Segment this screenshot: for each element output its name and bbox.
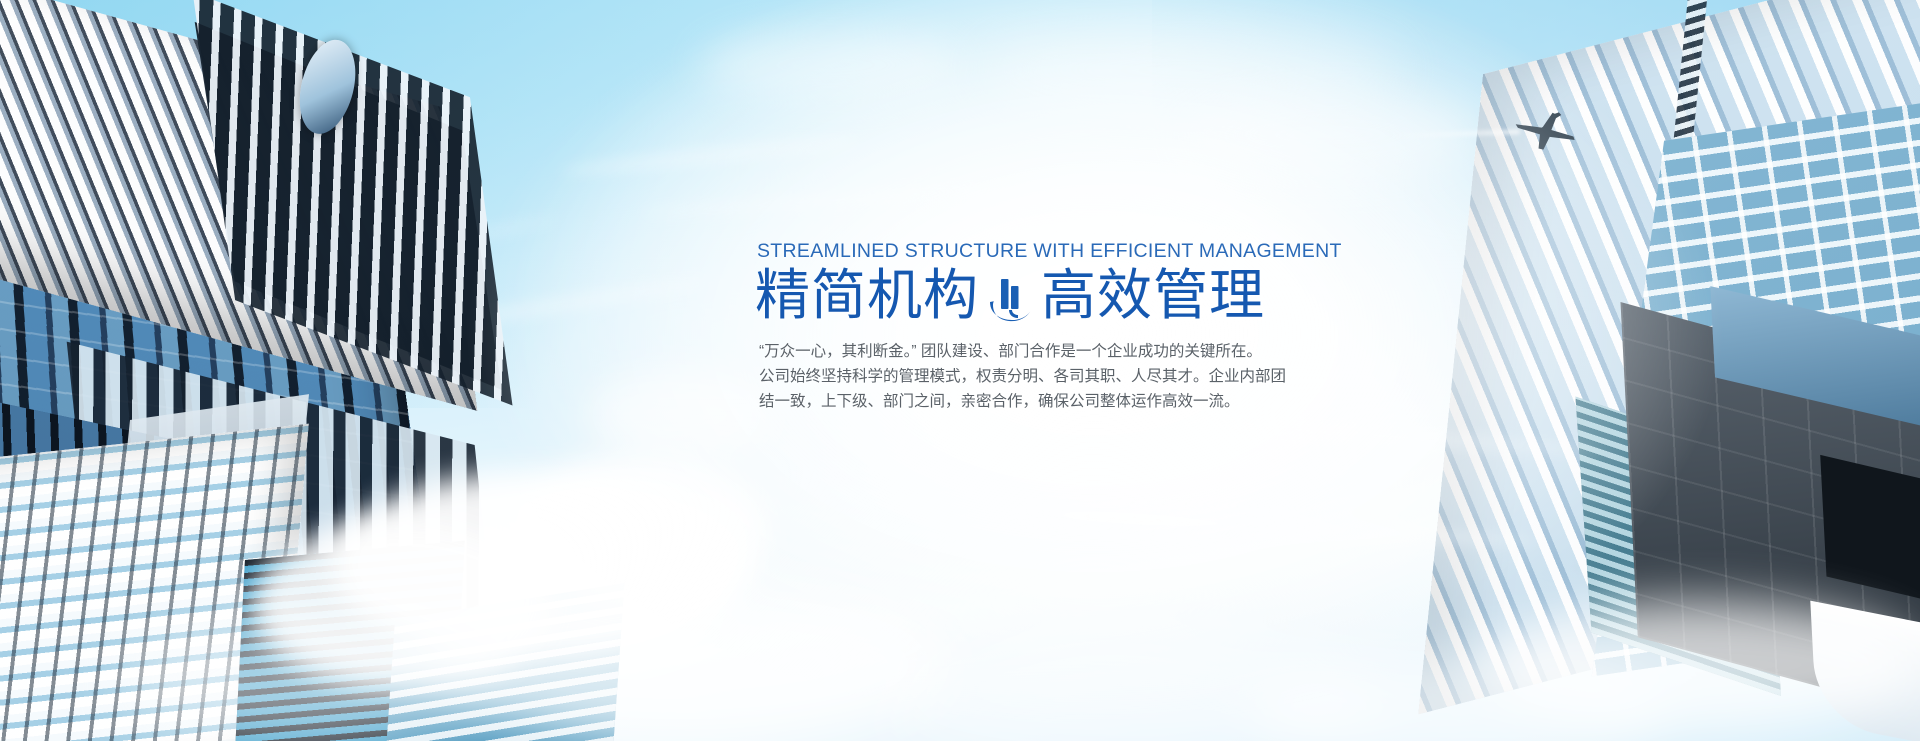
cloud xyxy=(250,520,550,690)
banner-body-text: “万众一心，其利断金。” 团队建设、部门合作是一个企业成功的关键所在。 公司始终… xyxy=(759,339,1319,414)
airplane-icon xyxy=(1512,108,1582,154)
cloud xyxy=(700,30,960,100)
cloud xyxy=(590,370,770,460)
banner-headline: 精简机构 高效管理 xyxy=(755,265,1395,327)
company-logo-mark xyxy=(987,274,1033,324)
cloud xyxy=(1480,600,1920,730)
cloud xyxy=(520,455,770,605)
headline-text-left: 精简机构 xyxy=(755,265,979,327)
banner-eyebrow-tagline: STREAMLINED STRUCTURE WITH EFFICIENT MAN… xyxy=(757,240,1395,263)
body-line: 结一致，上下级、部门之间，亲密合作，确保公司整体运作高效一流。 xyxy=(759,389,1319,414)
body-line: “万众一心，其利断金。” 团队建设、部门合作是一个企业成功的关键所在。 xyxy=(759,339,1319,364)
banner-copy-block: STREAMLINED STRUCTURE WITH EFFICIENT MAN… xyxy=(755,240,1395,414)
headline-text-right: 高效管理 xyxy=(1041,265,1265,327)
hero-banner: STREAMLINED STRUCTURE WITH EFFICIENT MAN… xyxy=(0,0,1920,741)
body-line: 公司始终坚持科学的管理模式，权责分明、各司其职、人尽其才。企业内部团 xyxy=(759,364,1319,389)
